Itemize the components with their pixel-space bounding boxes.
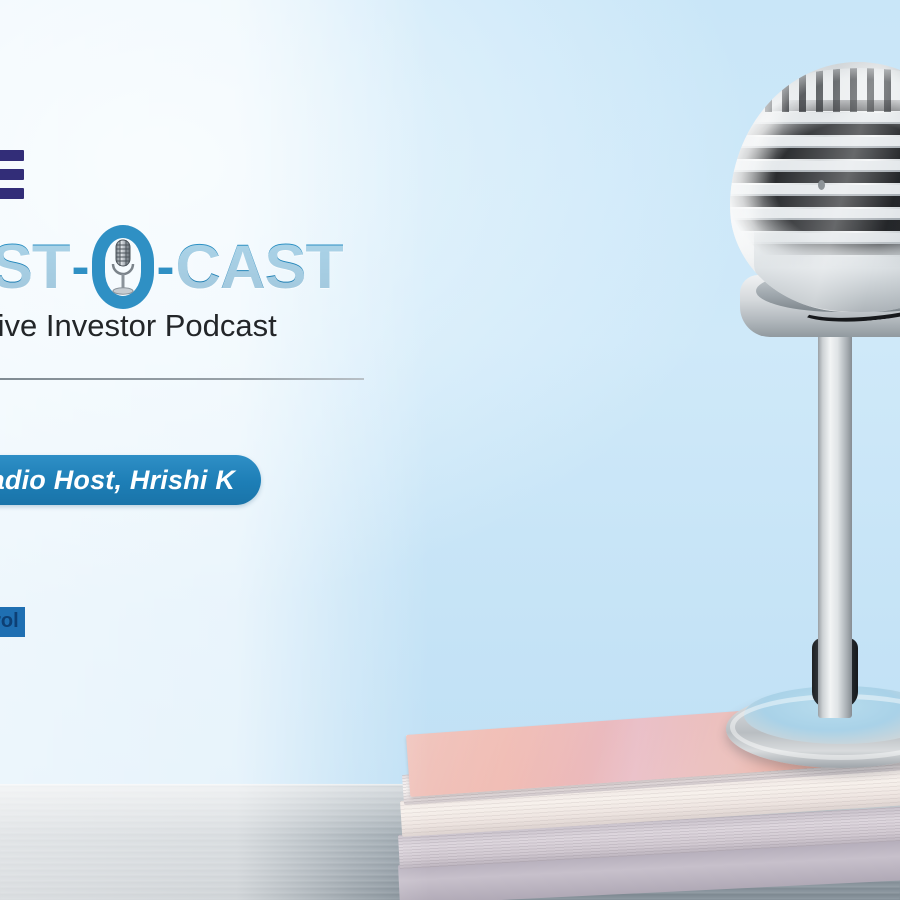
screenshot-canvas: EST - <box>0 0 900 900</box>
brand-text-after: CAST <box>176 231 344 303</box>
hamburger-bar <box>0 188 24 199</box>
microphone-head <box>730 62 900 312</box>
selected-text-label: ontrol <box>0 610 19 632</box>
brand-text-before: EST <box>0 231 70 303</box>
microphone-screw-dot <box>818 180 825 190</box>
brand-subtitle: lusive Investor Podcast <box>0 308 277 344</box>
selected-text-highlight[interactable]: ontrol <box>0 607 25 637</box>
microphone-stem <box>818 318 852 718</box>
radio-host-pill[interactable]: Radio Host, Hrishi K <box>0 455 261 505</box>
brand-dash-right: - <box>157 236 174 298</box>
hamburger-bar <box>0 169 24 180</box>
microphone <box>700 70 900 830</box>
brand-dash-left: - <box>72 236 89 298</box>
radio-host-label: Radio Host, Hrishi K <box>0 465 235 496</box>
microphone-icon <box>108 237 138 299</box>
hamburger-menu-icon[interactable] <box>0 150 24 202</box>
divider-rule <box>0 378 364 380</box>
hamburger-bar <box>0 150 24 161</box>
brand-logo-o <box>92 225 154 309</box>
brand-title: EST - <box>0 225 343 309</box>
